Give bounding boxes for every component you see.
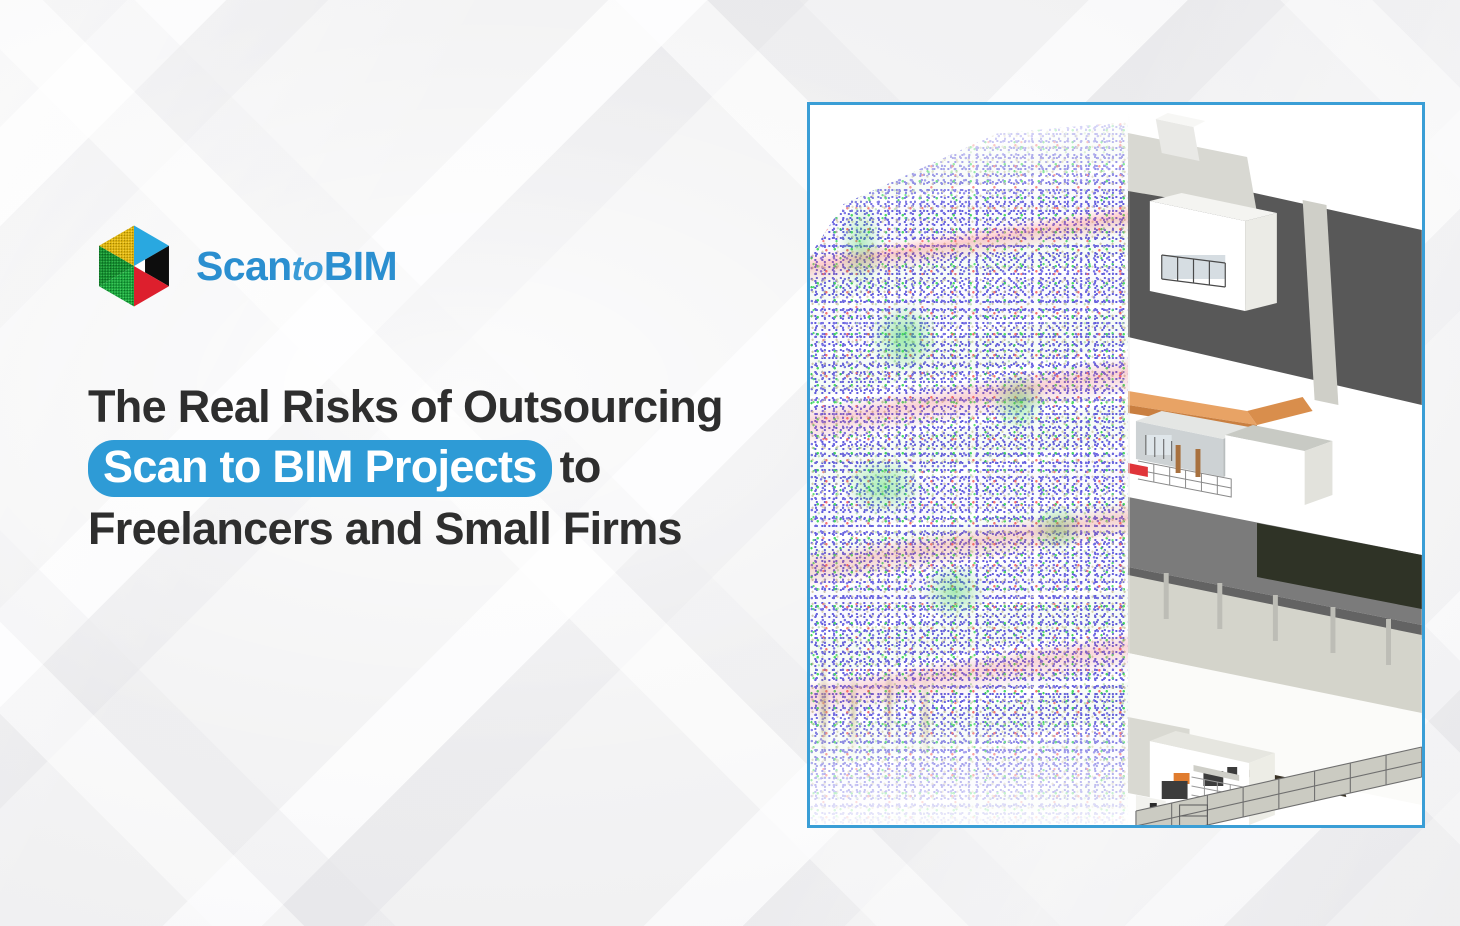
headline-highlight: Scan to BIM Projects — [88, 440, 552, 497]
scan-to-bim-comparison-image — [807, 102, 1425, 828]
page-title: The Real Risks of Outsourcing Scan to BI… — [88, 378, 803, 558]
point-cloud-half — [810, 105, 1128, 825]
bim-building-1-side — [1245, 213, 1277, 311]
point-cloud-bottom-fade — [810, 712, 1128, 825]
wordmark-to: to — [292, 250, 324, 288]
wordmark-scan: Scan — [196, 243, 292, 289]
point-cloud-body — [810, 119, 1128, 825]
panel-inner — [810, 105, 1422, 825]
bim-model-half — [1128, 105, 1422, 825]
bim-orange-canopy-side — [1247, 397, 1313, 425]
cloud-model-seam — [1128, 105, 1130, 825]
bim-column-b — [1196, 449, 1201, 477]
bim-building-3-side — [1305, 441, 1333, 505]
headline-line-2-tail: to — [560, 441, 601, 492]
brand-wordmark: ScantoBIM — [196, 246, 397, 287]
hexagon-cube-logo-icon — [88, 218, 180, 314]
headline-line-2: Scan to BIM Projectsto — [88, 438, 803, 497]
content-column: ScantoBIM The Real Risks of Outsourcing … — [0, 0, 810, 926]
bim-building-2-windows — [1146, 435, 1172, 455]
bim-red-ground-marking — [1128, 463, 1148, 477]
headline-line-3: Freelancers and Small Firms — [88, 500, 803, 558]
headline-line-1: The Real Risks of Outsourcing — [88, 378, 803, 436]
bim-column-a — [1176, 445, 1181, 473]
wordmark-bim: BIM — [324, 243, 397, 289]
brand-lockup[interactable]: ScantoBIM — [88, 218, 397, 314]
bim-model-render — [1128, 105, 1422, 825]
